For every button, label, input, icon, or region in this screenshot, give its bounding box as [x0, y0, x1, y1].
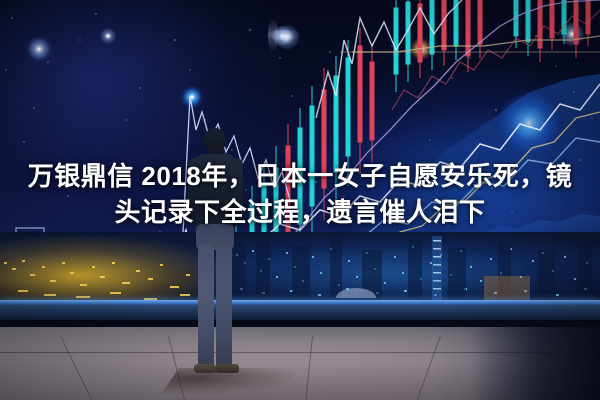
person-leg-right — [216, 244, 232, 368]
person-shoe-left — [194, 364, 217, 373]
building-silhouettes — [230, 236, 592, 308]
chart-resistance-line-tan-top — [352, 36, 600, 52]
floor-dark-right — [470, 327, 600, 400]
person-leg-left — [198, 244, 214, 368]
headline-line-1: 万银鼎信 2018年，日本一女子自愿安乐死，镜 — [0, 158, 600, 194]
headline-text: 万银鼎信 2018年，日本一女子自愿安乐死，镜 头记录下全过程，遗言催人泪下 — [0, 158, 600, 230]
person-shoe-right — [215, 364, 239, 373]
tall-tower-right — [432, 236, 442, 308]
headline-line-2: 头记录下全过程，遗言催人泪下 — [0, 194, 600, 230]
city-skyline — [0, 232, 600, 308]
gold-lights-cluster — [4, 260, 212, 300]
headline-image: 万银鼎信 2018年，日本一女子自愿安乐死，镜 头记录下全过程，遗言催人泪下 — [0, 0, 600, 400]
warm-light-patch — [484, 276, 530, 302]
city-window-lights — [0, 232, 600, 308]
